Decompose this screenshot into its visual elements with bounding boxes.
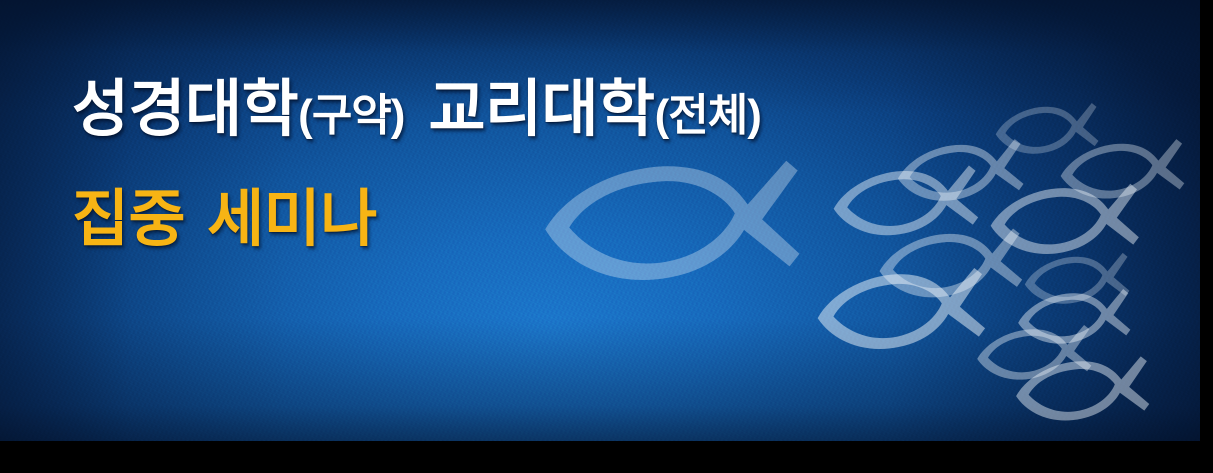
letterbox-bar-bottom [0, 441, 1213, 473]
headline-course-2: 교리대학 [428, 75, 654, 144]
headline-line-1: 성경대학(구약)교리대학(전체) [72, 68, 761, 158]
headline-emphasis-word-1: 집중 [72, 185, 185, 254]
banner-headline: 성경대학(구약)교리대학(전체) 집중세미나 [72, 68, 761, 262]
headline-line-2: 집중세미나 [72, 178, 761, 262]
letterbox-bar-right [1200, 0, 1213, 473]
seminar-banner: 성경대학(구약)교리대학(전체) 집중세미나 [0, 0, 1213, 473]
headline-course-1-paren: (구약) [298, 91, 404, 140]
headline-course-1: 성경대학 [72, 75, 298, 144]
headline-emphasis-word-2: 세미나 [207, 185, 377, 254]
headline-course-2-paren: (전체) [655, 91, 761, 140]
